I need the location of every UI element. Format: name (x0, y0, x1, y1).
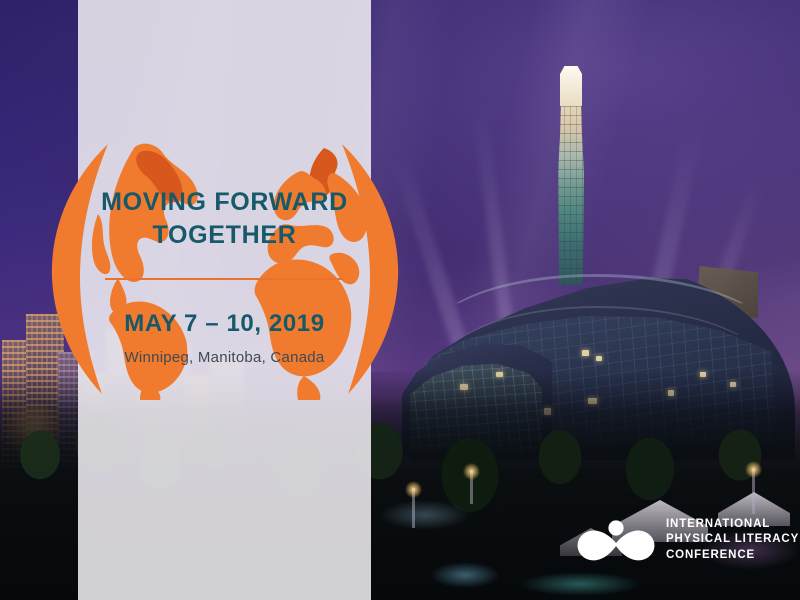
logo-line-2: PHYSICAL LITERACY (666, 532, 799, 547)
event-dates: MAY 7 – 10, 2019 (78, 310, 371, 338)
street-lamp (470, 470, 473, 504)
poster-text-block: MOVING FORWARD TOGETHER MAY 7 – 10, 2019… (78, 186, 371, 366)
lit-window (582, 350, 589, 356)
logo-wordmark: INTERNATIONAL PHYSICAL LITERACY CONFEREN… (666, 517, 799, 563)
conference-poster: MOVING FORWARD TOGETHER MAY 7 – 10, 2019… (0, 0, 800, 600)
conference-logo: INTERNATIONAL PHYSICAL LITERACY CONFEREN… (575, 512, 765, 568)
tower-spire (560, 66, 582, 106)
headline-line-2: TOGETHER (152, 221, 296, 249)
lit-window (596, 356, 602, 361)
event-location: Winnipeg, Manitoba, Canada (78, 349, 371, 366)
logo-line-3: CONFERENCE (666, 548, 799, 563)
street-lamp (752, 468, 755, 514)
divider (105, 278, 345, 280)
page-title: MOVING FORWARD TOGETHER (78, 186, 371, 252)
logo-line-1: INTERNATIONAL (666, 517, 799, 532)
headline-line-1: MOVING FORWARD (101, 188, 348, 216)
street-lamp (412, 488, 415, 528)
infinity-person-icon (575, 516, 657, 564)
